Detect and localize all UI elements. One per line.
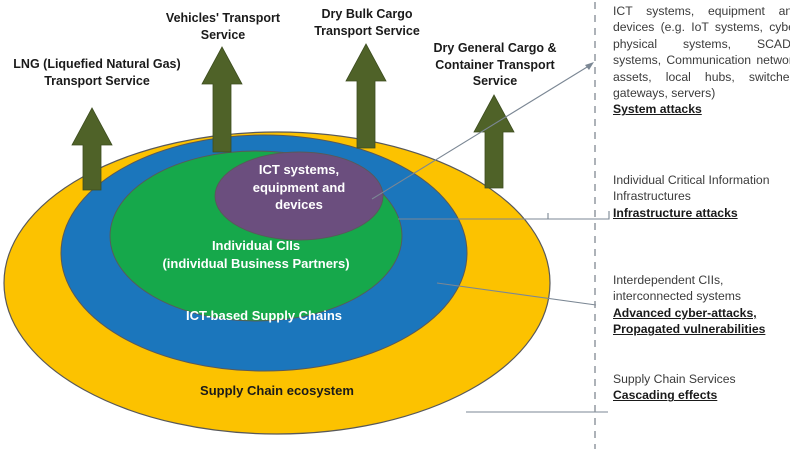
annotation-infrastructure-attacks: Individual Critical Information Infrastr… (613, 172, 790, 221)
diagram-canvas: LNG (Liquefied Natural Gas) Transport Se… (0, 0, 790, 451)
annotation-system-attacks-body: ICT systems, equipment and devices (e.g.… (613, 3, 790, 101)
annotation-infrastructure-attacks-body: Individual Critical Information Infrastr… (613, 172, 790, 205)
leader-arrowhead-system-attacks (585, 62, 594, 70)
arrow-dry-bulk-cargo-transport-service (346, 44, 386, 148)
annotation-cascading-effects-label: Cascading effects (613, 387, 790, 403)
service-label-vehicles-transport-service: Vehicles' Transport Service (145, 10, 301, 43)
annotation-infrastructure-attacks-label: Infrastructure attacks (613, 205, 790, 221)
service-label-dry-bulk-cargo-transport-service: Dry Bulk Cargo Transport Service (292, 6, 442, 39)
annotation-advanced-cyber-attacks: Interdependent CIIs, interconnected syst… (613, 272, 790, 338)
annotation-cascading-effects-body: Supply Chain Services (613, 371, 790, 387)
annotation-system-attacks: ICT systems, equipment and devices (e.g.… (613, 3, 790, 118)
annotation-system-attacks-label: System attacks (613, 101, 790, 117)
arrow-dry-general-cargo-transport-service (474, 95, 514, 188)
service-label-lng-transport-service: LNG (Liquefied Natural Gas) Transport Se… (2, 56, 192, 89)
annotation-cascading-effects: Supply Chain Services Cascading effects (613, 371, 790, 404)
annotation-advanced-cyber-attacks-body: Interdependent CIIs, interconnected syst… (613, 272, 790, 305)
annotation-advanced-cyber-attacks-label: Advanced cyber-attacks, Propagated vulne… (613, 305, 790, 338)
service-label-dry-general-cargo-transport-service: Dry General Cargo & Container Transport … (419, 40, 571, 90)
ict-core-ellipse (215, 152, 383, 240)
